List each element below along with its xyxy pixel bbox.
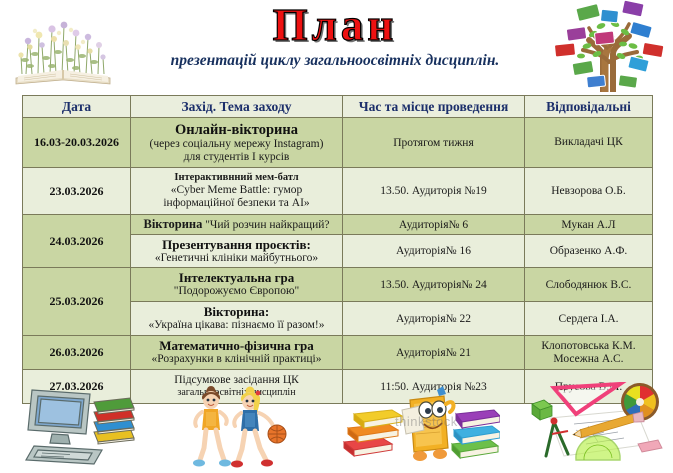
event-detail: «Генетичні клініки майбутнього»: [133, 252, 340, 265]
cell-time-place: Аудиторія№ 21: [343, 336, 525, 370]
event-detail: "Подорожуємо Європою": [133, 285, 340, 298]
table-row: 23.03.2026 Інтерактивнний мем-батл «Cybe…: [23, 168, 653, 215]
column-header-event: Захід. Тема заходу: [131, 96, 343, 118]
plan-table: Дата Захід. Тема заходу Час та місце про…: [22, 95, 653, 404]
event-detail: для студентів I курсів: [133, 151, 340, 164]
event-title: Вікторина "Чий розчин найкращий?: [133, 218, 340, 232]
open-book-with-wildflowers-image: [8, 2, 120, 90]
page-title: План: [120, 0, 550, 50]
cell-date: 25.03.2026: [23, 268, 131, 336]
computer-and-books-image: [14, 384, 144, 470]
cell-time-place: 13.50. Аудиторія№ 24: [343, 268, 525, 302]
page-subtitle: презентацій циклу загальноосвітніх дисци…: [120, 52, 550, 70]
cell-event: Інтерактивнний мем-батл «Cyber Meme Batt…: [131, 168, 343, 215]
table-row: 24.03.2026 Вікторина "Чий розчин найкращ…: [23, 215, 653, 235]
footer-art-strip: thinkstock: [0, 378, 673, 473]
event-detail: «Cyber Meme Battle: гумор: [133, 184, 340, 197]
table-row: 16.03-20.03.2026 Онлайн-вікторина (через…: [23, 118, 653, 168]
cell-date: 23.03.2026: [23, 168, 131, 215]
image-watermark: thinkstock: [395, 414, 458, 429]
cell-date: 24.03.2026: [23, 215, 131, 268]
plan-table-container: Дата Захід. Тема заходу Час та місце про…: [22, 95, 652, 404]
column-header-time-place: Час та місце проведення: [343, 96, 525, 118]
event-title: Інтелектуальна гра: [133, 271, 340, 285]
column-header-date: Дата: [23, 96, 131, 118]
cell-time-place: 13.50. Аудиторія №19: [343, 168, 525, 215]
cell-date: 16.03-20.03.2026: [23, 118, 131, 168]
responsible-name: Мосежна А.С.: [527, 353, 650, 366]
event-detail: «Розрахунки в клінічній практиці»: [133, 353, 340, 366]
cell-time-place: Аудиторія№ 6: [343, 215, 525, 235]
cell-responsible: Мукан А.Л: [525, 215, 653, 235]
responsible-name: Клопотовська К.М.: [527, 340, 650, 353]
responsible-name: Невзорова О.Б.: [527, 185, 650, 198]
table-row: 26.03.2026 Математично-фізична гра «Розр…: [23, 336, 653, 370]
cell-responsible: Викладачі ЦК: [525, 118, 653, 168]
cell-event: Презентування проєктів: «Генетичні кліні…: [131, 235, 343, 268]
cell-responsible: Невзорова О.Б.: [525, 168, 653, 215]
title-block: План презентацій циклу загальноосвітніх …: [120, 0, 550, 70]
cell-event: Онлайн-вікторина (через соціальну мережу…: [131, 118, 343, 168]
cell-responsible: Сердега І.А.: [525, 302, 653, 336]
event-detail: інформаційної безпеки та AI»: [133, 197, 340, 210]
cell-time-place: Аудиторія№ 16: [343, 235, 525, 268]
table-row: 25.03.2026 Інтелектуальна гра "Подорожує…: [23, 268, 653, 302]
event-title: Інтерактивнний мем-батл: [133, 172, 340, 184]
cell-time-place: Аудиторія№ 22: [343, 302, 525, 336]
cell-event: Вікторина: «Україна цікава: пізнаємо її …: [131, 302, 343, 336]
cell-responsible: Образенко А.Ф.: [525, 235, 653, 268]
event-title: Математично-фізична гра: [133, 339, 340, 353]
cell-responsible: Слободянюк В.С.: [525, 268, 653, 302]
event-title: Презентування проєктів:: [133, 238, 340, 252]
page-header: План презентацій циклу загальноосвітніх …: [0, 0, 673, 92]
cell-responsible: Клопотовська К.М. Мосежна А.С.: [525, 336, 653, 370]
event-detail: «Україна цікава: пізнаємо її разом!»: [133, 319, 340, 332]
cell-event: Вікторина "Чий розчин найкращий?: [131, 215, 343, 235]
cell-date: 26.03.2026: [23, 336, 131, 370]
cell-event: Математично-фізична гра «Розрахунки в кл…: [131, 336, 343, 370]
event-detail: (через соціальну мережу Instagram): [133, 138, 340, 151]
drawing-tools-and-stationery-image: [528, 382, 668, 470]
column-header-responsible: Відповідальні: [525, 96, 653, 118]
book-tree-image: [547, 0, 669, 92]
cell-time-place: Протягом тижня: [343, 118, 525, 168]
cell-event: Інтелектуальна гра "Подорожуємо Європою": [131, 268, 343, 302]
responsible-name: Викладачі ЦК: [527, 136, 650, 149]
event-title: Онлайн-вікторина: [133, 122, 340, 138]
event-title: Вікторина:: [133, 305, 340, 319]
table-header-row: Дата Захід. Тема заходу Час та місце про…: [23, 96, 653, 118]
two-girls-with-basketball-image: [182, 382, 292, 472]
